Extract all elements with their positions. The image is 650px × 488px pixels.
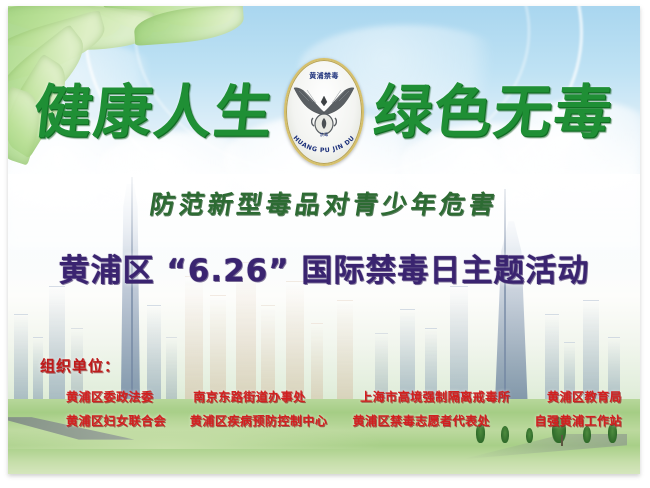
organizer-item: 黄浦区疾病预防控制中心 (190, 412, 353, 429)
poster-frame: 健康人生 黄浦禁毒 (0, 0, 650, 488)
organizers-row: 黄浦区妇女联合会 黄浦区疾病预防控制中心 黄浦区禁毒志愿者代表处 自强黄浦工作站 (66, 408, 622, 432)
page-title: 黄浦区 “6.26” 国际禁毒日主题活动 (8, 254, 640, 288)
organizer-item: 黄浦区委政法委 (66, 388, 193, 405)
organizer-item: 自强黄浦工作站 (534, 412, 622, 429)
bamboo-leaves-decoration (8, 6, 232, 183)
organizers-list: 黄浦区委政法委 南京东路街道办事处 上海市高境强制隔离戒毒所 黄浦区教育局 黄浦… (66, 384, 622, 432)
anti-drug-campaign-poster: 健康人生 黄浦禁毒 (8, 6, 640, 474)
organizer-item: 黄浦区妇女联合会 (66, 412, 190, 429)
organizer-item: 南京东路街道办事处 (193, 388, 360, 405)
sub-headline: 防范新型毒品对青少年危害 (8, 192, 640, 217)
organizer-item: 黄浦区教育局 (547, 388, 622, 405)
organizers-label: 组织单位： (40, 355, 120, 376)
cloud-shape (299, 25, 514, 109)
organizer-item: 黄浦区禁毒志愿者代表处 (353, 412, 535, 429)
organizers-row: 黄浦区委政法委 南京东路街道办事处 上海市高境强制隔离戒毒所 黄浦区教育局 (66, 384, 622, 408)
organizer-item: 上海市高境强制隔离戒毒所 (360, 388, 547, 405)
road-path-right (463, 434, 627, 459)
